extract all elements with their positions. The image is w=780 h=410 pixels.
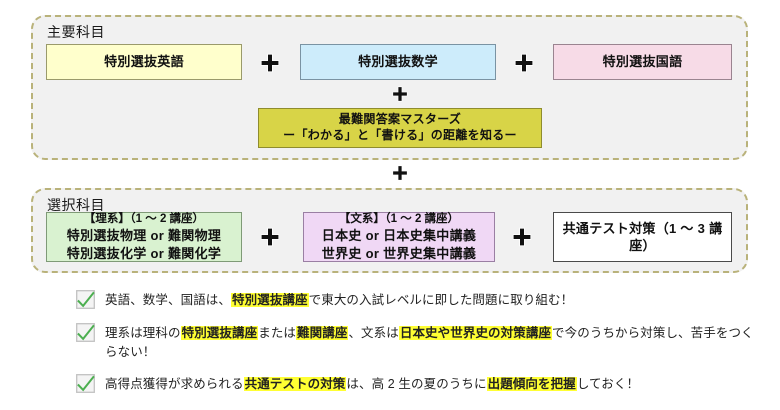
plus-icon-between-sections (391, 164, 409, 182)
bullet-text: 高得点獲得が求められる共通テストの対策は、高 2 生の夏のうちに出題傾向を把握し… (105, 374, 639, 394)
plus-icon-row1-a (259, 52, 281, 74)
bullet-text-run: しておく！ (577, 377, 639, 391)
bullet-text-run: 理系は理科の (105, 326, 181, 340)
bullet-text-run: で東大の入試レベルに即した問題に取り組む！ (309, 293, 574, 307)
diagram-canvas: 主要科目 特別選抜英語 特別選抜数学 特別選抜国語 最難関答案マスターズ ー「わ… (0, 0, 780, 410)
plus-icon-row1-b (513, 52, 535, 74)
course-box-science[interactable]: 【理系】（1 〜 2 講座） 特別選抜物理 or 難関物理 特別選抜化学 or … (46, 212, 242, 262)
course-box-humanities[interactable]: 【文系】（1 〜 2 講座） 日本史 or 日本史集中講義 世界史 or 世界史… (303, 212, 495, 262)
plus-icon-row2-a (259, 226, 281, 248)
highlighted-term: 特別選抜講座 (181, 326, 259, 340)
course-box-science-line1: 【理系】（1 〜 2 講座） (84, 212, 204, 227)
bullet-text-run: 高得点獲得が求められる (105, 377, 244, 391)
course-box-common-test[interactable]: 共通テスト対策（1 〜 3 講座） (553, 212, 732, 262)
bullet-text: 英語、数学、国語は、特別選抜講座で東大の入試レベルに即した問題に取り組む！ (105, 290, 573, 310)
plus-icon-master (391, 85, 409, 103)
highlighted-term: 共通テストの対策 (244, 377, 347, 391)
highlighted-term: 特別選抜講座 (231, 293, 309, 307)
course-box-kokugo-label: 特別選抜国語 (603, 53, 683, 70)
course-box-common-test-label: 共通テスト対策（1 〜 3 講座） (554, 220, 731, 254)
course-box-math[interactable]: 特別選抜数学 (300, 44, 496, 80)
course-box-humanities-line1: 【文系】（1 〜 2 講座） (339, 212, 459, 227)
bullet-text-run: 、文系は (348, 326, 398, 340)
course-box-math-label: 特別選抜数学 (358, 53, 438, 70)
bullet-list: 英語、数学、国語は、特別選抜講座で東大の入試レベルに即した問題に取り組む！理系は… (76, 290, 756, 407)
course-box-english-label: 特別選抜英語 (104, 53, 184, 70)
bullet-text: 理系は理科の特別選抜講座または難関講座、文系は日本史や世界史の対策講座で今のうち… (105, 323, 756, 362)
bullet-item: 高得点獲得が求められる共通テストの対策は、高 2 生の夏のうちに出題傾向を把握し… (76, 374, 756, 394)
section-main-subjects-title: 主要科目 (47, 22, 105, 42)
bullet-item: 理系は理科の特別選抜講座または難関講座、文系は日本史や世界史の対策講座で今のうち… (76, 323, 756, 362)
course-box-science-line2: 特別選抜物理 or 難関物理 (67, 227, 221, 244)
course-box-master[interactable]: 最難関答案マスターズ ー「わかる」と「書ける」の距離を知るー (258, 108, 542, 148)
course-box-science-line3: 特別選抜化学 or 難関化学 (67, 245, 221, 262)
course-box-humanities-line3: 世界史 or 世界史集中講義 (322, 245, 476, 262)
bullet-text-run: は、高 2 生の夏のうちに (346, 377, 486, 391)
course-box-master-line2: ー「わかる」と「書ける」の距離を知るー (283, 128, 517, 144)
check-icon (76, 323, 95, 342)
check-icon (76, 374, 95, 393)
course-box-kokugo[interactable]: 特別選抜国語 (553, 44, 732, 80)
plus-icon-row2-b (511, 226, 533, 248)
course-box-humanities-line2: 日本史 or 日本史集中講義 (322, 227, 476, 244)
highlighted-term: 出題傾向を把握 (487, 377, 577, 391)
bullet-text-run: 英語、数学、国語は、 (105, 293, 231, 307)
check-icon (76, 290, 95, 309)
bullet-text-run: または (258, 326, 296, 340)
bullet-item: 英語、数学、国語は、特別選抜講座で東大の入試レベルに即した問題に取り組む！ (76, 290, 756, 310)
highlighted-term: 難関講座 (296, 326, 348, 340)
highlighted-term: 日本史や世界史の対策講座 (399, 326, 552, 340)
course-box-english[interactable]: 特別選抜英語 (46, 44, 242, 80)
course-box-master-line1: 最難関答案マスターズ (339, 112, 461, 128)
